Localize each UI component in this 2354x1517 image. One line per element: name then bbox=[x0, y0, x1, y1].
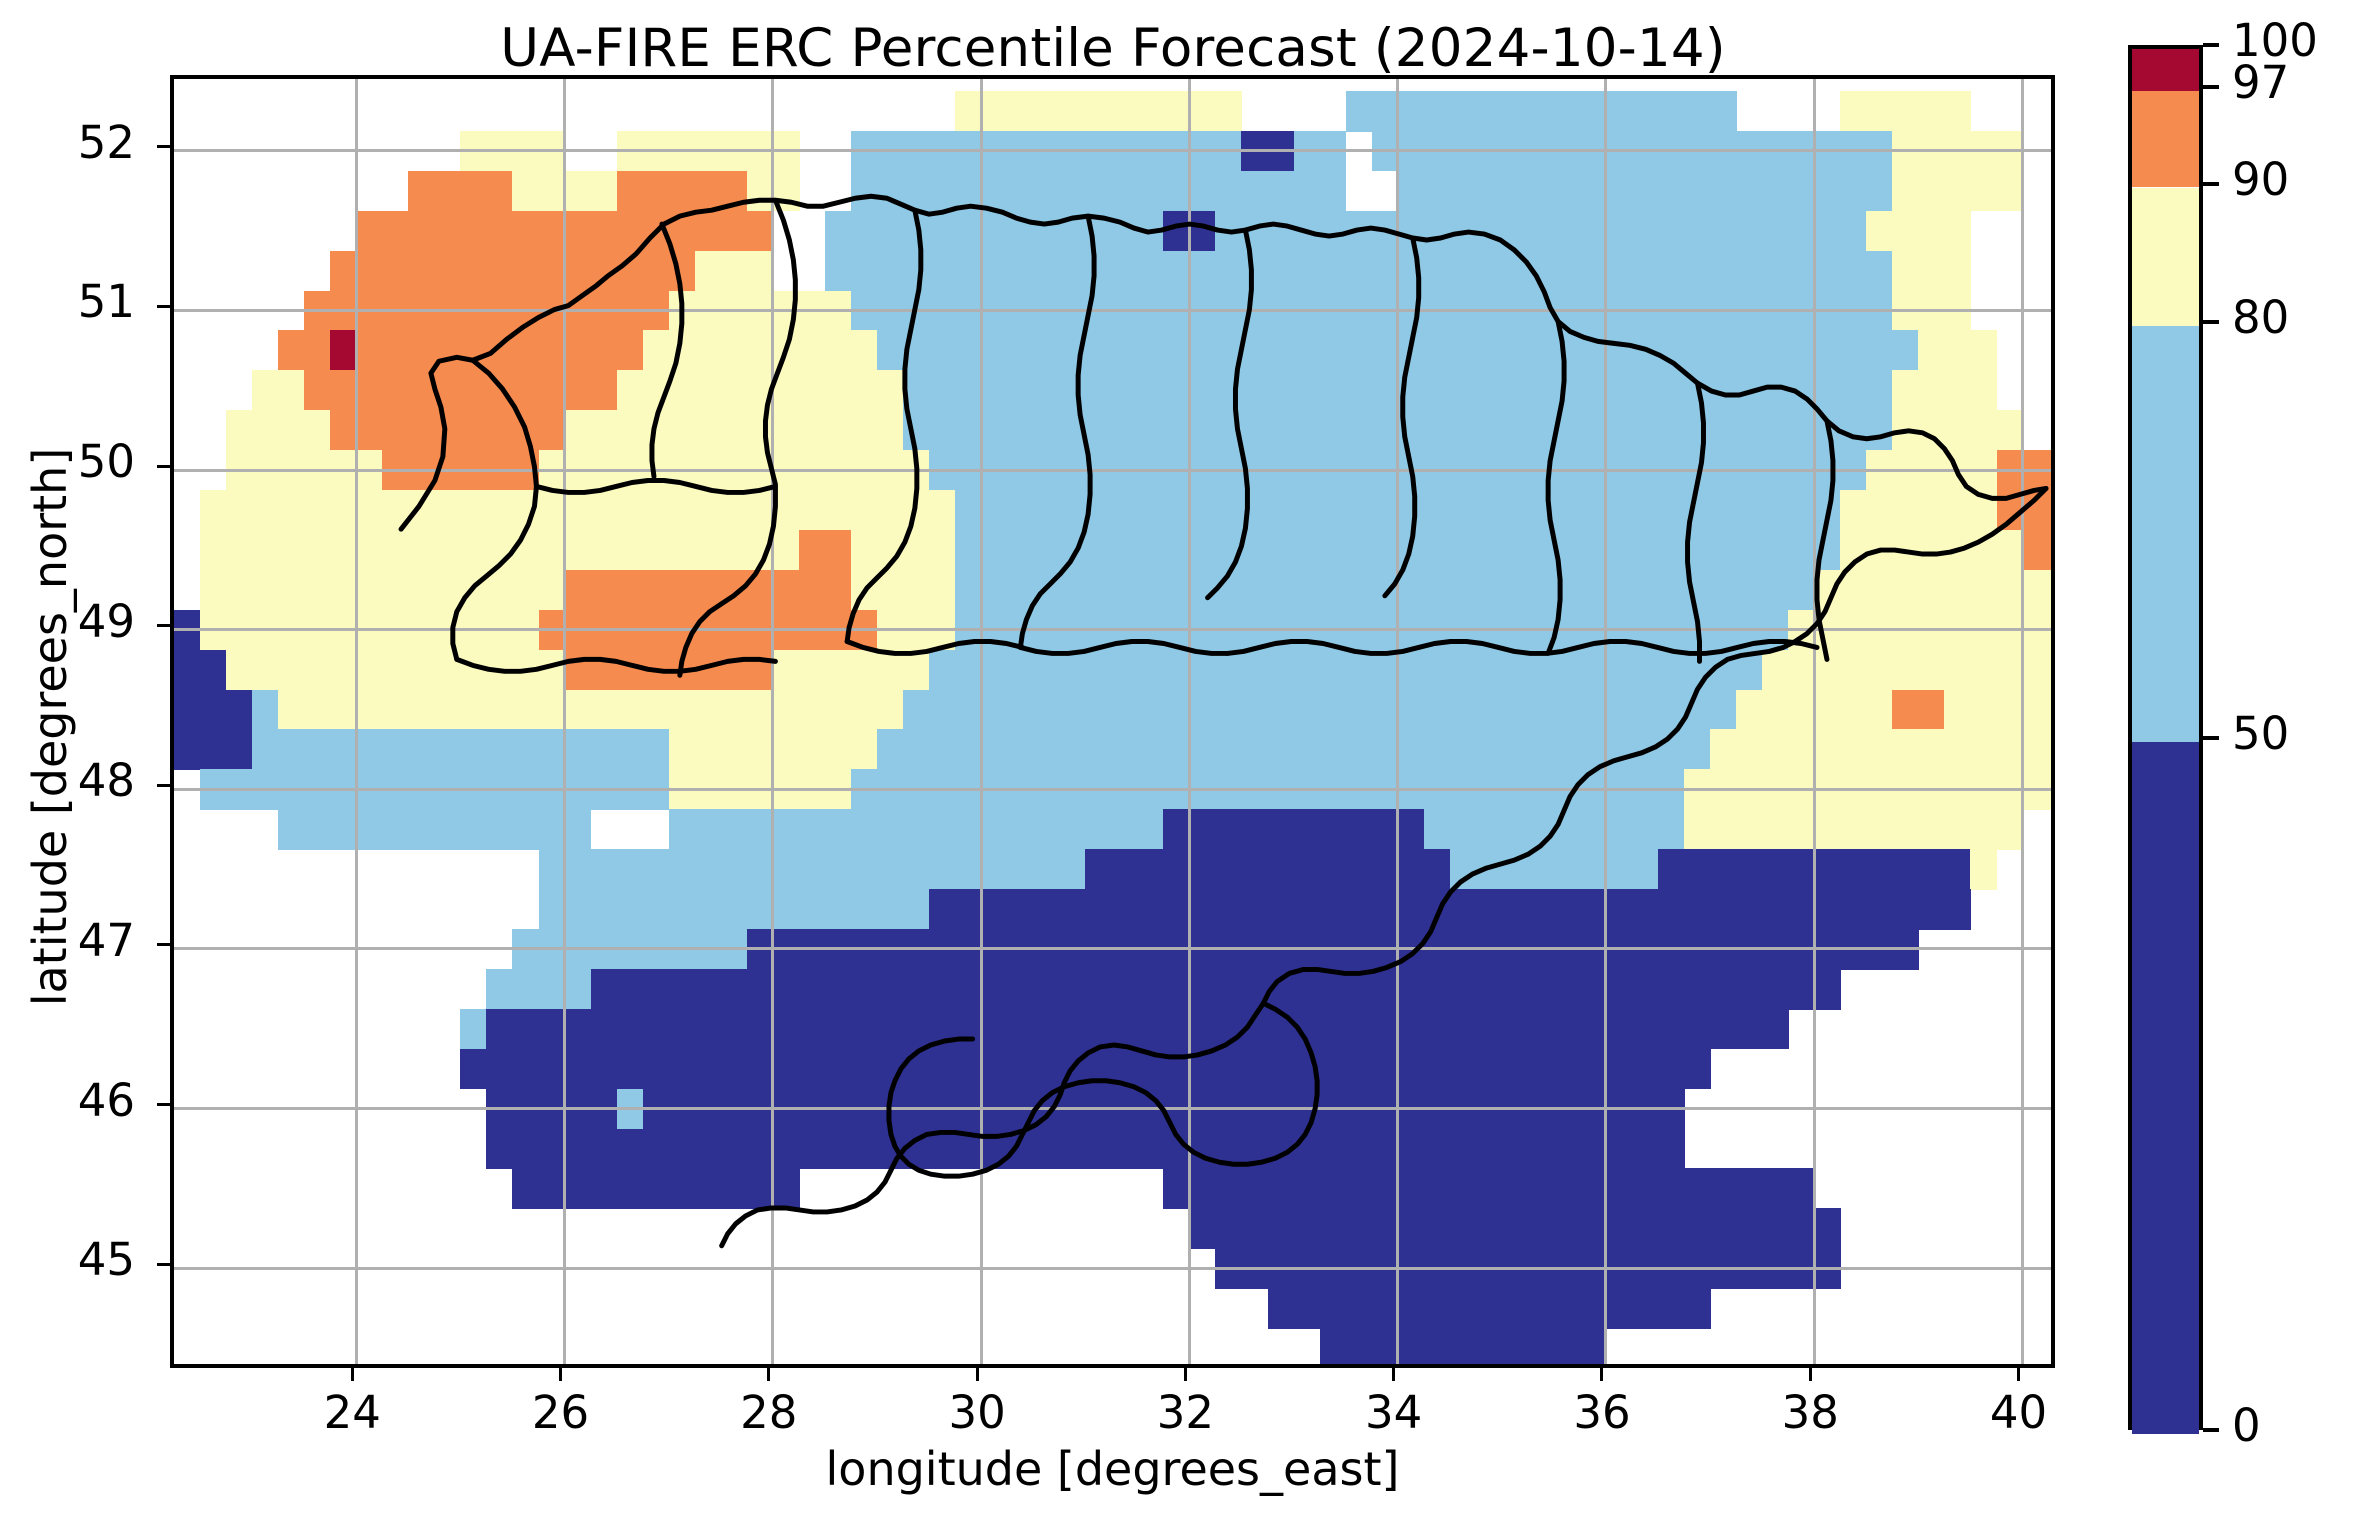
colorbar-tick bbox=[2203, 182, 2219, 186]
map-clip bbox=[174, 79, 2051, 1364]
colorbar-tick bbox=[2203, 320, 2219, 324]
x-axis-label: longitude [degrees_east] bbox=[170, 1442, 2055, 1496]
x-tick-label: 40 bbox=[1959, 1386, 2079, 1439]
colorbar-segment bbox=[2132, 188, 2199, 327]
x-tick bbox=[1809, 1368, 1812, 1381]
colorbar[interactable] bbox=[2128, 45, 2203, 1430]
x-tick bbox=[2017, 1368, 2020, 1381]
x-tick bbox=[976, 1368, 979, 1381]
colorbar-segment bbox=[2132, 742, 2199, 1435]
colorbar-tick-label: 97 bbox=[2232, 56, 2289, 109]
colorbar-tick-label: 80 bbox=[2232, 291, 2289, 344]
colorbar-tick bbox=[2203, 1428, 2219, 1432]
y-tick bbox=[157, 1103, 170, 1106]
y-tick-label: 52 bbox=[15, 116, 135, 169]
map-plot-area[interactable] bbox=[170, 75, 2055, 1368]
colorbar-tick-label: 90 bbox=[2232, 153, 2289, 206]
y-tick-label: 51 bbox=[15, 275, 135, 328]
x-tick bbox=[559, 1368, 562, 1381]
y-tick bbox=[157, 305, 170, 308]
colorbar-segment bbox=[2132, 91, 2199, 188]
ukraine-admin-borders bbox=[174, 79, 2051, 1364]
y-tick-label: 45 bbox=[15, 1233, 135, 1286]
x-tick bbox=[1392, 1368, 1395, 1381]
x-tick bbox=[1600, 1368, 1603, 1381]
colorbar-segment bbox=[2132, 326, 2199, 742]
y-tick bbox=[157, 784, 170, 787]
x-tick bbox=[1184, 1368, 1187, 1381]
colorbar-tick-label: 0 bbox=[2232, 1399, 2261, 1452]
colorbar-segment bbox=[2132, 49, 2199, 91]
colorbar-tick bbox=[2203, 43, 2219, 47]
y-tick bbox=[157, 1263, 170, 1266]
x-tick-label: 36 bbox=[1542, 1386, 1662, 1439]
x-tick-label: 32 bbox=[1125, 1386, 1245, 1439]
x-tick-label: 28 bbox=[709, 1386, 829, 1439]
page-title: UA-FIRE ERC Percentile Forecast (2024-10… bbox=[170, 18, 2056, 79]
x-tick-label: 24 bbox=[292, 1386, 412, 1439]
y-tick bbox=[157, 624, 170, 627]
figure-canvas: UA-FIRE ERC Percentile Forecast (2024-10… bbox=[0, 0, 2354, 1517]
x-tick bbox=[767, 1368, 770, 1381]
colorbar-tick bbox=[2203, 85, 2219, 89]
colorbar-tick-label: 50 bbox=[2232, 707, 2289, 760]
x-tick bbox=[351, 1368, 354, 1381]
y-axis-label: latitude [degrees_north] bbox=[23, 327, 77, 1127]
colorbar-tick bbox=[2203, 736, 2219, 740]
x-tick-label: 30 bbox=[917, 1386, 1037, 1439]
x-tick-label: 26 bbox=[501, 1386, 621, 1439]
y-tick bbox=[157, 145, 170, 148]
y-tick bbox=[157, 943, 170, 946]
x-tick-label: 34 bbox=[1334, 1386, 1454, 1439]
y-tick bbox=[157, 465, 170, 468]
x-tick-label: 38 bbox=[1750, 1386, 1870, 1439]
